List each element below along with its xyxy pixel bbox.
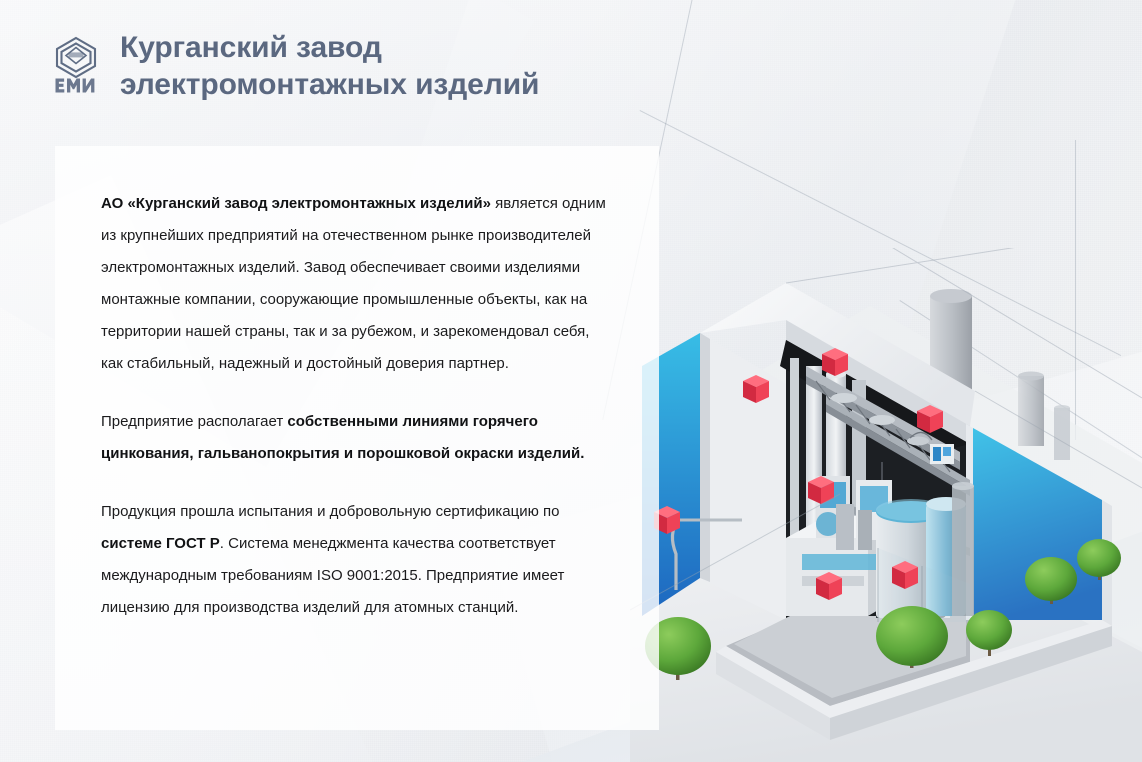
paragraph-intro-rest: является одним из крупнейших предприятий… <box>101 195 606 372</box>
page-title: Курганский завод электромонтажных издели… <box>120 30 539 103</box>
paragraph-cert-bold: системе ГОСТ Р <box>101 535 220 552</box>
paragraph-intro: АО «Курганский завод электромонтажных из… <box>101 188 613 380</box>
marker-cube <box>816 572 842 600</box>
paragraph-cert-prefix: Продукция прошла испытания и добровольну… <box>101 503 560 520</box>
paragraph-certification: Продукция прошла испытания и добровольну… <box>101 496 613 624</box>
slide-root: Курганский завод электромонтажных издели… <box>0 0 1142 762</box>
marker-cube <box>917 405 943 433</box>
title-line-2: электромонтажных изделий <box>120 67 539 104</box>
factory-illustration-svg <box>630 248 1142 762</box>
paragraph-lines-prefix: Предприятие располагает <box>101 413 287 430</box>
building-left-face-shade <box>700 333 710 582</box>
paragraph-intro-lead: АО «Курганский завод электромонтажных из… <box>101 195 491 212</box>
factory-illustration <box>630 248 1142 762</box>
company-logo-icon <box>52 36 100 98</box>
marker-cube <box>892 561 918 589</box>
marker-cube <box>743 375 769 403</box>
title-line-1: Курганский завод <box>120 30 539 67</box>
paragraph-lines: Предприятие располагает собственными лин… <box>101 406 613 470</box>
description-card: АО «Курганский завод электромонтажных из… <box>55 146 659 730</box>
slide-header: Курганский завод электромонтажных издели… <box>52 30 539 103</box>
marker-cube <box>822 348 848 376</box>
